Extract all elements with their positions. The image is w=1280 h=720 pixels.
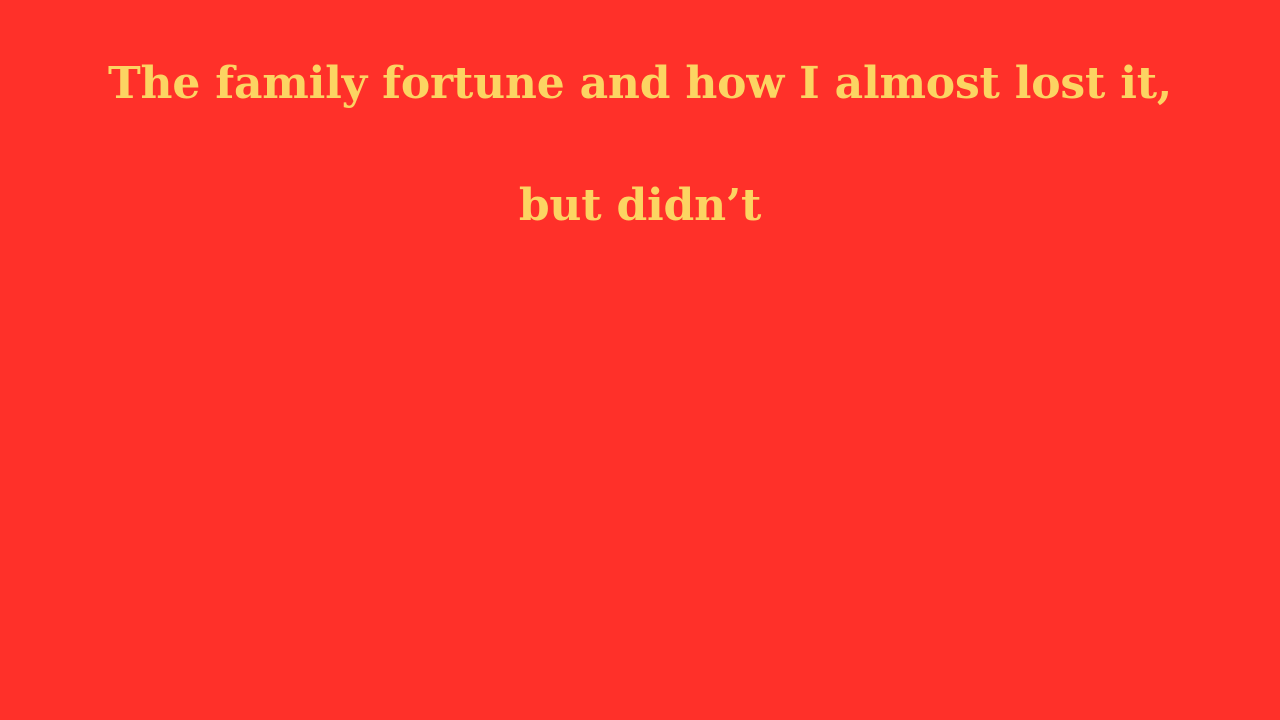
empty-stage-area <box>0 280 1280 720</box>
caption-line-1: The family fortune and how I almost lost… <box>0 62 1280 120</box>
caption-slide: The family fortune and how I almost lost… <box>0 0 1280 720</box>
caption-block: The family fortune and how I almost lost… <box>0 0 1280 242</box>
caption-line-2: but didn’t <box>0 184 1280 242</box>
